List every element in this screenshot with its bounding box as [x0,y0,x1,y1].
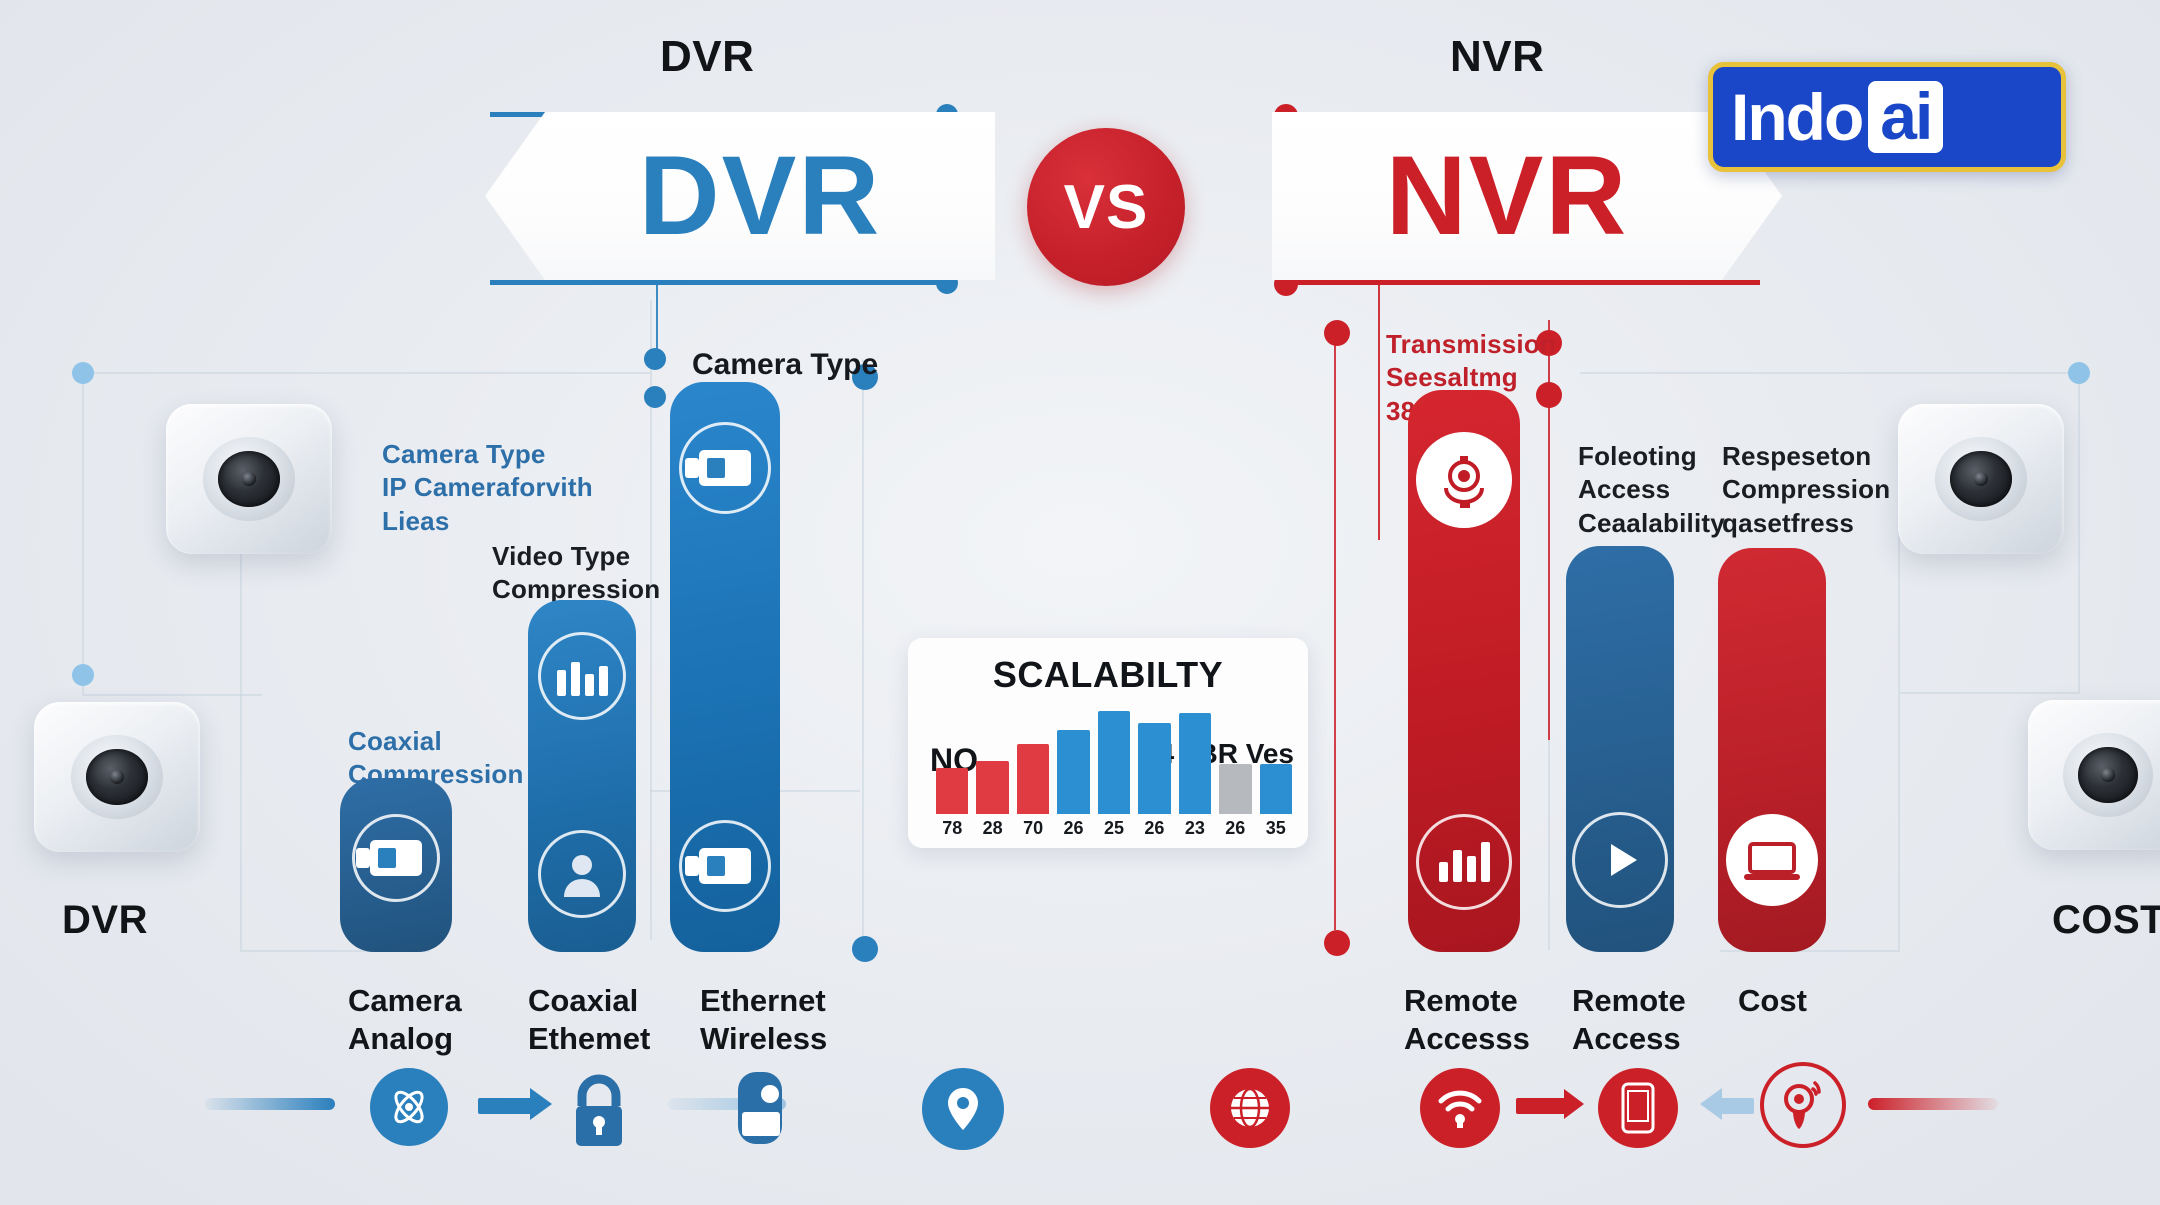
camera-lens [2078,747,2137,802]
camera-lens [86,749,147,804]
chart-bar [1057,694,1089,814]
nvr-bar-label-remote-access-2: Remote Access [1572,982,1686,1058]
chart-bar-fill [936,768,968,814]
edge-label-cost: COST [2052,898,2160,943]
globe-glyph [1227,1085,1273,1131]
monitor-icon [352,814,440,902]
guide-line [82,694,262,696]
guide-line [2078,372,2080,692]
dvr-banner: DVR [485,112,995,280]
camera-lens-glint [110,770,125,783]
chart-tick-label: 78 [936,818,968,842]
guide-line [1580,372,2080,374]
nvr-banner: NVR [1272,112,1782,280]
arrow-right-icon [478,1098,532,1114]
logo-text-indo: Indo [1731,84,1862,150]
guide-node [644,348,666,370]
logo-ai-box: ai [1868,81,1943,153]
guide-node [852,936,878,962]
arrow-right-head [1564,1089,1584,1119]
annotation-camera-type: Camera Type IP Cameraforvith Lieas [382,438,593,538]
dvr-bar-camera-analog [340,778,452,952]
user-icon [538,830,626,918]
vs-label: VS [1064,172,1149,243]
arrow-right-icon [1516,1098,1566,1114]
scalability-card: SCALABILTY NO 4 3BR Ves 7828702625262326… [908,638,1308,848]
server-glyph [557,656,608,696]
dvr-bar-coaxial-ethernet [528,600,636,952]
guide-node [1324,320,1350,346]
phone-glyph [1621,1082,1655,1134]
camera-lens-glint [242,472,257,485]
arrow-left-head [1700,1088,1722,1120]
monitor-glyph [370,840,422,876]
camera-lens-glint [1974,472,1989,485]
cctv-signal-icon [1760,1062,1846,1148]
guide-line [862,360,864,950]
header-label-nvr: NVR [1450,32,1544,82]
guide-node [1324,930,1350,956]
network-glyph [388,1086,430,1128]
chart-tick-label: 26 [1219,818,1251,842]
nvr-banner-text: NVR [1386,140,1628,252]
guide-line [82,372,84,694]
arrow-left-icon [1720,1098,1754,1114]
chart-bar-fill [1219,764,1251,814]
camera-lens-housing [71,735,164,819]
camera-lens-housing [203,437,296,521]
monitor-glyph [699,848,751,884]
chart-title: SCALABILTY [908,654,1308,696]
chart-bar-fill [1057,730,1089,814]
camera-lens [218,451,279,506]
chart-tick-row: 782870262526232635 [936,818,1292,842]
nvr-bar-label-cost: Cost [1738,982,1807,1020]
camera-lens [1950,451,2011,506]
chart-bar [976,694,1008,814]
guide-line [80,372,650,374]
wifi-icon [1420,1068,1500,1148]
chart-bar [1138,694,1170,814]
vs-badge: VS [1027,128,1185,286]
node-label-camera-type: Camera Type [692,348,878,382]
network-icon [370,1068,448,1146]
bar-chart-icon [1416,814,1512,910]
chart-tick-label: 25 [1098,818,1130,842]
chart-tick-label: 70 [1017,818,1049,842]
brand-logo: Indo ai [1708,62,2066,172]
guide-node [72,362,94,384]
guide-node [72,664,94,686]
chart-bar [936,694,968,814]
chart-bar-fill [1179,713,1211,814]
dvr-bar-label-coaxial-ethernet: Coaxial Ethemet [528,982,650,1058]
chart-tick-label: 35 [1260,818,1292,842]
gradient-bar [1868,1098,1998,1110]
camera-lens-housing [1935,437,2028,521]
camera-bottom-right [2028,700,2160,850]
chart-bar [1179,694,1211,814]
annotation-video-type: Video Type Compression [492,540,660,607]
nvr-bar-cost [1718,548,1826,952]
camera-top-left [166,404,332,554]
chart-bar [1219,694,1251,814]
chart-tick-label: 26 [1138,818,1170,842]
guide-line [1900,692,2080,694]
guide-node [644,386,666,408]
server-icon [538,632,626,720]
cctv-signal-glyph [1779,1079,1827,1131]
nvr-bar-remote-access-2 [1566,546,1674,952]
cctv-glyph [1436,452,1492,508]
chart-bar [1260,694,1292,814]
wifi-glyph [1437,1087,1483,1129]
play-icon [1572,812,1668,908]
chart-bar-fill [1260,764,1292,814]
annotation-compression: Respeseton Compression qasetfress [1722,440,1890,540]
bar-chart-glyph [1439,842,1490,882]
camera-device-glyph [724,1068,796,1148]
camera-lens-glint [2101,768,2115,781]
chart-bar-fill [1138,723,1170,814]
camera-icon [679,820,771,912]
camera-top-right [1898,404,2064,554]
play-glyph [1611,844,1637,876]
annotation-remote-access: Foleoting Access Ceaalability [1578,440,1725,540]
infographic-canvas: DVR NVR DVR NVR VS Indo ai [0,0,2160,1205]
dvr-bar-ethernet-wireless [670,382,780,952]
phone-icon [1598,1068,1678,1148]
camera-lens-housing [2063,733,2153,817]
chart-bar [1017,694,1049,814]
chart-bar-fill [1017,744,1049,814]
chart-tick-label: 26 [1057,818,1089,842]
nvr-bar-remote-access-1 [1408,390,1520,952]
chart-bar-fill [1098,711,1130,814]
edge-label-dvr: DVR [62,898,148,943]
laptop-glyph [1744,838,1800,882]
dvr-bar-label-ethernet-wireless: Ethernet Wireless [700,982,827,1058]
connector-line [1334,330,1336,930]
chart-bar-fill [976,761,1008,814]
guide-line [1898,470,1900,950]
arrow-right-head [530,1088,552,1120]
location-pin-icon [922,1068,1004,1150]
dvr-banner-rule-bottom [490,280,950,285]
dvr-banner-text: DVR [639,140,881,252]
laptop-icon [1726,814,1818,906]
guide-node [2068,362,2090,384]
location-pin-glyph [945,1086,981,1132]
nvr-banner-rule-bottom [1290,280,1760,285]
camera-device-icon [724,1068,796,1148]
globe-icon [1210,1068,1290,1148]
camera-bottom-left [34,702,200,852]
nvr-bar-label-remote-access-1: Remote Accesss [1404,982,1530,1058]
dvr-bar-label-camera-analog: Camera Analog [348,982,462,1058]
chart-tick-label: 28 [976,818,1008,842]
gradient-bar [205,1098,335,1110]
lock-glyph [562,1070,636,1148]
user-glyph [560,851,604,897]
chart-tick-label: 23 [1179,818,1211,842]
cctv-icon [1416,432,1512,528]
lock-icon [562,1070,636,1148]
logo-text-ai: ai [1880,83,1931,149]
monitor-glyph [699,450,751,486]
connector-line [1378,280,1380,540]
chart-bar [1098,694,1130,814]
camera-icon [679,422,771,514]
chart-plot-area [936,694,1292,814]
header-label-dvr: DVR [660,32,754,82]
